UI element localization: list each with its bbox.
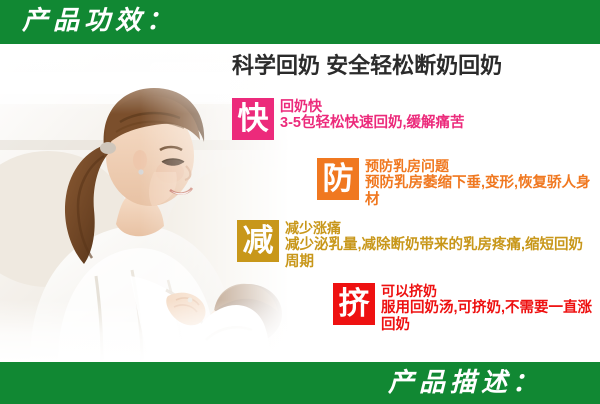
feature-row-prevent: 防 预防乳房问题 预防乳房萎缩下垂,变形,恢复骄人身材: [317, 158, 585, 209]
feature-title-fast: 回奶快: [280, 98, 465, 115]
feature-desc-fast: 3-5包轻松快速回奶,缓解痛苦: [280, 115, 465, 132]
mother-baby-photo: [0, 44, 300, 362]
product-efficacy-banner: 产品功效：: [0, 0, 600, 404]
headline: 科学回奶 安全轻松断奶回奶: [232, 52, 600, 80]
feature-desc-prevent: 预防乳房萎缩下垂,变形,恢复骄人身材: [365, 175, 597, 209]
feature-title-reduce: 减少涨痛: [285, 220, 597, 237]
feature-row-reduce: 减 减少涨痛 减少泌乳量,减除断奶带来的乳房疼痛,缩短回奶周期: [237, 220, 587, 271]
feature-title-prevent: 预防乳房问题: [365, 158, 597, 175]
badge-prevent: 防: [317, 158, 359, 200]
feature-text-express: 可以挤奶 服用回奶汤,可挤奶,不需要一直涨回奶: [381, 283, 599, 334]
bottom-green-banner: 产品描述：: [0, 362, 600, 404]
product-description-title: 产品描述：: [388, 370, 543, 396]
feature-text-prevent: 预防乳房问题 预防乳房萎缩下垂,变形,恢复骄人身材: [365, 158, 597, 209]
badge-reduce: 减: [237, 220, 279, 262]
feature-row-express: 挤 可以挤奶 服用回奶汤,可挤奶,不需要一直涨回奶: [333, 283, 588, 334]
feature-text-fast: 回奶快 3-5包轻松快速回奶,缓解痛苦: [280, 98, 465, 132]
top-green-banner: 产品功效：: [0, 0, 600, 44]
badge-fast: 快: [232, 98, 274, 140]
feature-row-fast: 快 回奶快 3-5包轻松快速回奶,缓解痛苦: [232, 98, 562, 140]
feature-text-reduce: 减少涨痛 减少泌乳量,减除断奶带来的乳房疼痛,缩短回奶周期: [285, 220, 597, 271]
product-efficacy-title: 产品功效：: [22, 8, 177, 34]
badge-express: 挤: [333, 283, 375, 325]
feature-desc-reduce: 减少泌乳量,减除断奶带来的乳房疼痛,缩短回奶周期: [285, 237, 597, 271]
feature-title-express: 可以挤奶: [381, 283, 599, 300]
feature-desc-express: 服用回奶汤,可挤奶,不需要一直涨回奶: [381, 300, 599, 334]
